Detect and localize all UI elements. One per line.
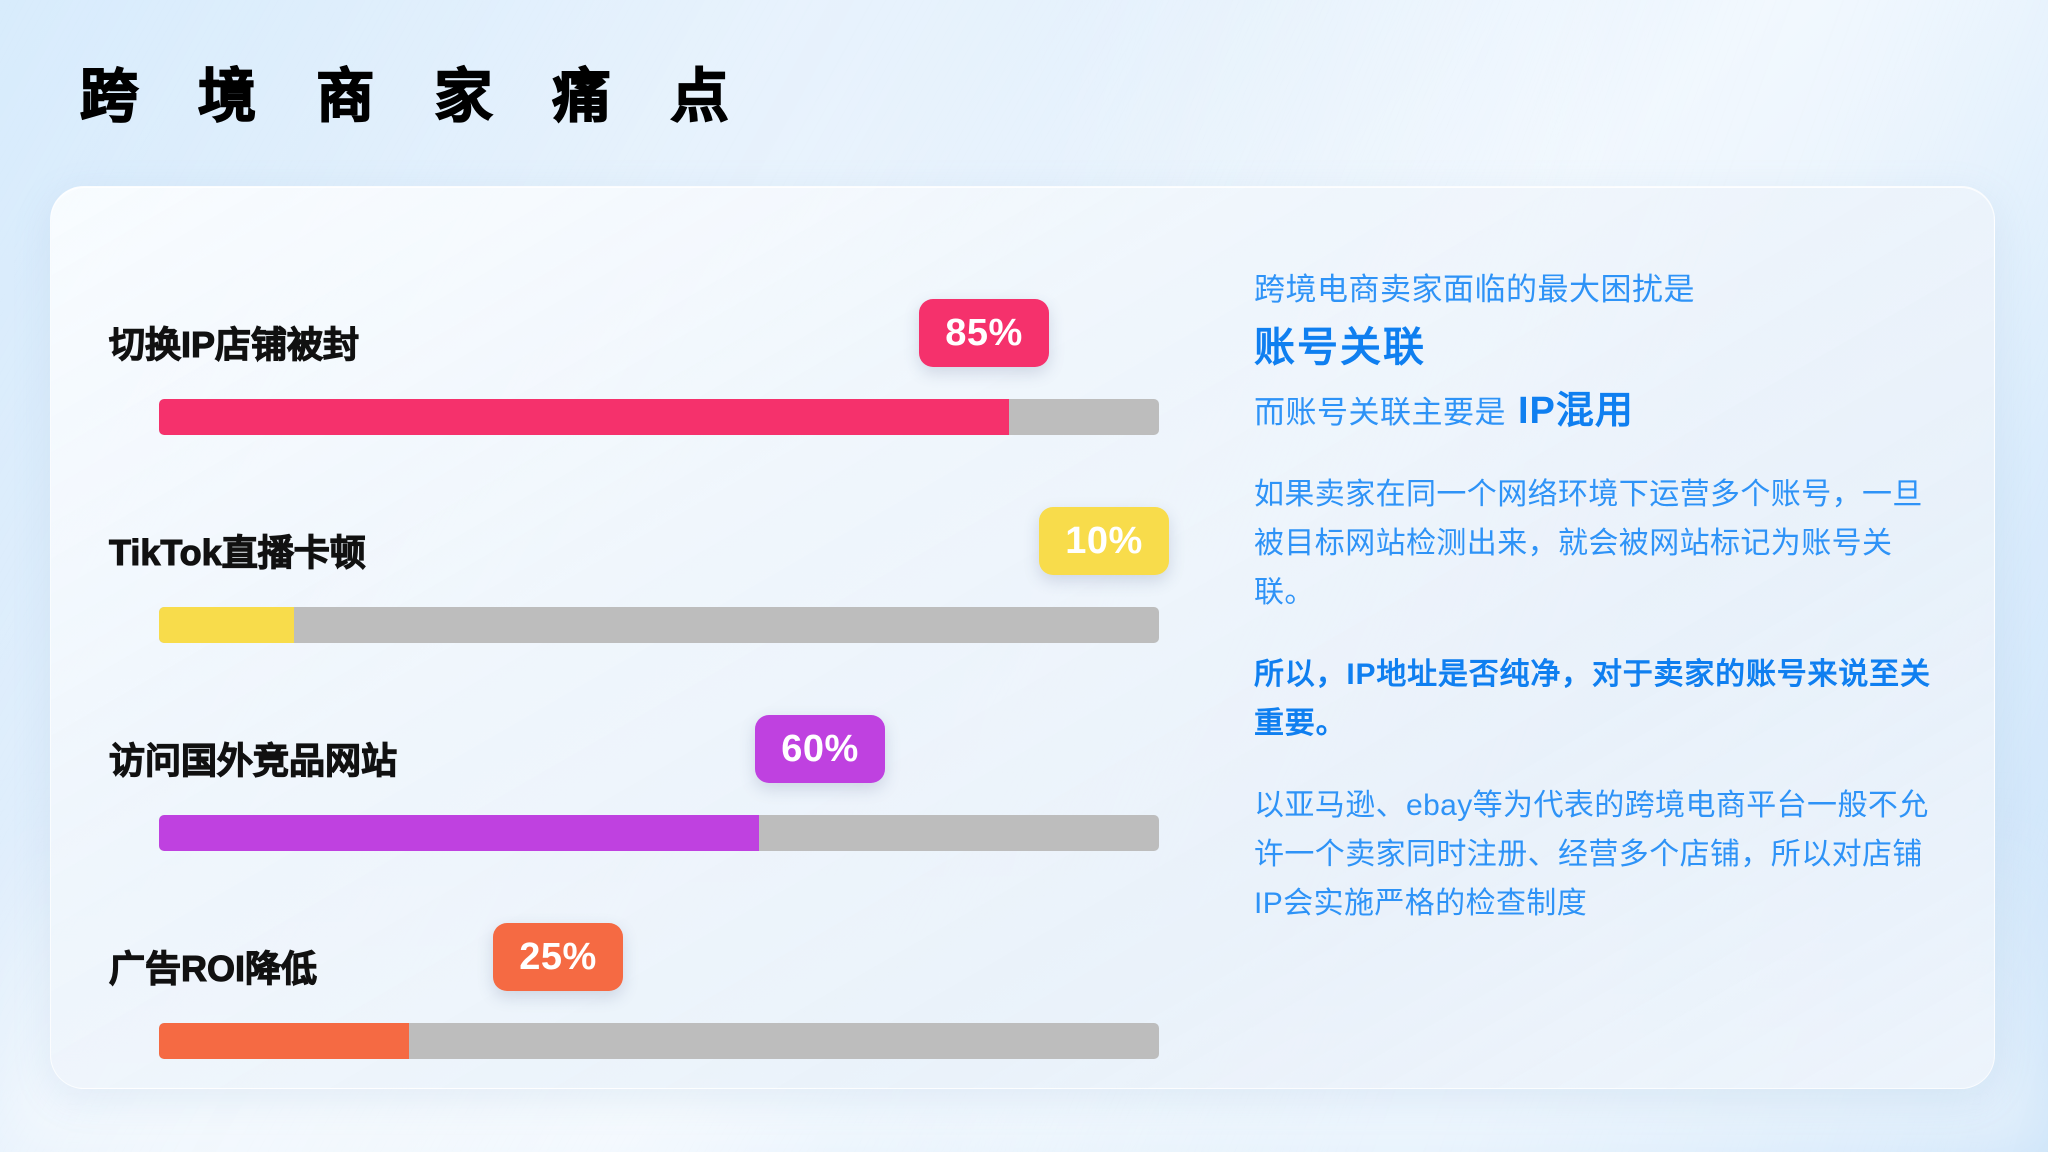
paragraph-3: 以亚马逊、ebay等为代表的跨境电商平台一般不允许一个卖家同时注册、经营多个店铺… [1254, 782, 1932, 928]
bar-value-badge: 10% [1039, 507, 1169, 575]
paragraph-1: 如果卖家在同一个网络环境下运营多个账号，一旦被目标网站检测出来，就会被网站标记为… [1254, 471, 1932, 617]
bar-track [159, 607, 1159, 643]
bar-fill [159, 815, 759, 851]
bar-header: 访问国外竞品网站 60% [109, 687, 1206, 783]
explanation-panel: 跨境电商卖家面临的最大困扰是 账号关联 而账号关联主要是IP混用 如果卖家在同一… [1206, 187, 1994, 1088]
bar-label: TikTok直播卡顿 [109, 535, 366, 575]
lead-subline: 而账号关联主要是IP混用 [1254, 386, 1932, 437]
bar-fill [159, 1023, 409, 1059]
bar-header: TikTok直播卡顿 10% [109, 479, 1206, 575]
bar-header: 广告ROI降低 25% [109, 895, 1206, 991]
bar-track [159, 815, 1159, 851]
bar-label: 广告ROI降低 [109, 951, 317, 991]
bar-label: 切换IP店铺被封 [109, 327, 359, 367]
bar-row: 切换IP店铺被封 85% [109, 271, 1206, 479]
bar-label: 访问国外竞品网站 [109, 743, 397, 783]
bar-row: TikTok直播卡顿 10% [109, 479, 1206, 687]
bar-fill [159, 399, 1009, 435]
paragraph-2: 所以，IP地址是否纯净，对于卖家的账号来说至关重要。 [1254, 651, 1932, 748]
bar-fill [159, 607, 294, 643]
bar-track [159, 1023, 1159, 1059]
lead-subline-highlight: IP混用 [1518, 390, 1634, 432]
page-title: 跨 境 商 家 痛 点 [80, 68, 751, 126]
lead-subline-prefix: 而账号关联主要是 [1254, 395, 1506, 430]
lead-line: 跨境电商卖家面临的最大困扰是 [1254, 269, 1932, 311]
bar-value-badge: 60% [755, 715, 885, 783]
content-card: 切换IP店铺被封 85% TikTok直播卡顿 10% 访问国外竞品网站 60% [50, 186, 1995, 1089]
bar-row: 广告ROI降低 25% [109, 895, 1206, 1103]
lead-headline: 账号关联 [1254, 321, 1932, 374]
bar-value-badge: 85% [919, 299, 1049, 367]
bar-value-badge: 25% [493, 923, 623, 991]
bar-track [159, 399, 1159, 435]
bar-header: 切换IP店铺被封 85% [109, 271, 1206, 367]
pain-points-chart: 切换IP店铺被封 85% TikTok直播卡顿 10% 访问国外竞品网站 60% [51, 187, 1206, 1088]
bar-row: 访问国外竞品网站 60% [109, 687, 1206, 895]
